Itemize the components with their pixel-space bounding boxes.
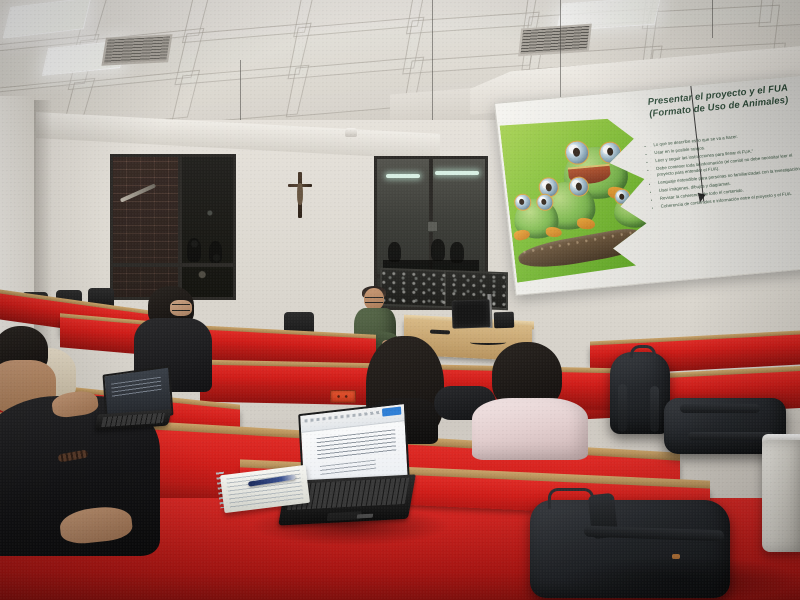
backpack-handle <box>548 488 594 509</box>
classroom-photo: Presentar el proyecto y el FUA (Formato … <box>0 0 800 600</box>
frog-leg <box>546 227 562 238</box>
projection-screen: Presentar el proyecto y el FUA (Formato … <box>494 75 800 296</box>
desk-phone <box>494 312 515 329</box>
ceiling-air-vent <box>518 24 592 57</box>
power-outlet <box>330 390 356 403</box>
slide-title: Presentar el proyecto y el FUA (Formato … <box>647 82 799 121</box>
document-text-lines <box>320 459 376 474</box>
slide-frog-image <box>500 112 667 283</box>
backpack-strap <box>584 526 724 542</box>
laptop-left-screen-content <box>111 377 162 398</box>
hanging-cable <box>432 0 433 126</box>
backpack-strap <box>680 404 760 413</box>
document-text-lines <box>316 429 396 460</box>
backpack-strap <box>618 384 627 432</box>
backpack-upright <box>610 352 670 434</box>
eyeglasses-icon <box>172 304 190 311</box>
backpack-strap <box>650 386 659 432</box>
desktop-monitor <box>452 299 491 328</box>
ceiling-air-vent <box>101 34 172 65</box>
backpack-shadow <box>560 556 800 600</box>
slide-bullet-list: Lo que se describe es lo que se va a hac… <box>646 128 800 213</box>
student-center-pink-body <box>472 398 588 460</box>
hanging-cable <box>712 0 713 38</box>
eyeglasses-icon <box>365 297 383 303</box>
window-latch-icon <box>427 221 438 232</box>
crucifix-icon <box>288 172 312 218</box>
thermos-bottle <box>762 440 800 552</box>
laptop-shadow <box>250 506 450 546</box>
backpack-handle <box>630 345 656 358</box>
frog-leg <box>513 228 531 241</box>
smoke-detector-icon <box>345 128 357 137</box>
cable <box>470 340 506 345</box>
hanging-cable <box>560 0 561 106</box>
left-window <box>110 154 236 300</box>
